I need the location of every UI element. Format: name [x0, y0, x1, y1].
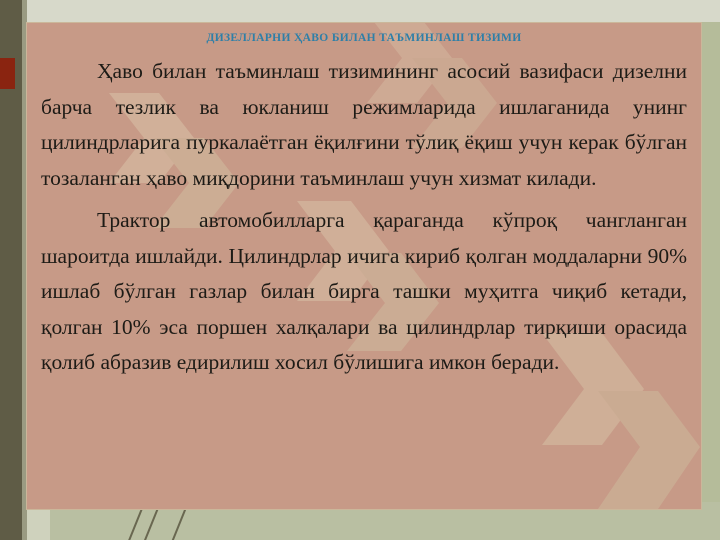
- accent-block: [0, 58, 15, 89]
- body-paragraph: Трактор автомобилларга қараганда кўпроқ …: [41, 203, 687, 381]
- background-top-strip: [0, 0, 720, 22]
- presentation-slide: ДИЗЕЛЛАРНИ ҲАВО БИЛАН ТАЪМИНЛАШ ТИЗИМИ Ҳ…: [0, 0, 720, 540]
- body-paragraph: Ҳаво билан таъминлаш тизимининг асосий в…: [41, 54, 687, 196]
- slide-content-box: ДИЗЕЛЛАРНИ ҲАВО БИЛАН ТАЪМИНЛАШ ТИЗИМИ Ҳ…: [26, 22, 702, 510]
- slide-body: Ҳаво билан таъминлаш тизимининг асосий в…: [27, 44, 701, 381]
- slide-title: ДИЗЕЛЛАРНИ ҲАВО БИЛАН ТАЪМИНЛАШ ТИЗИМИ: [27, 23, 701, 44]
